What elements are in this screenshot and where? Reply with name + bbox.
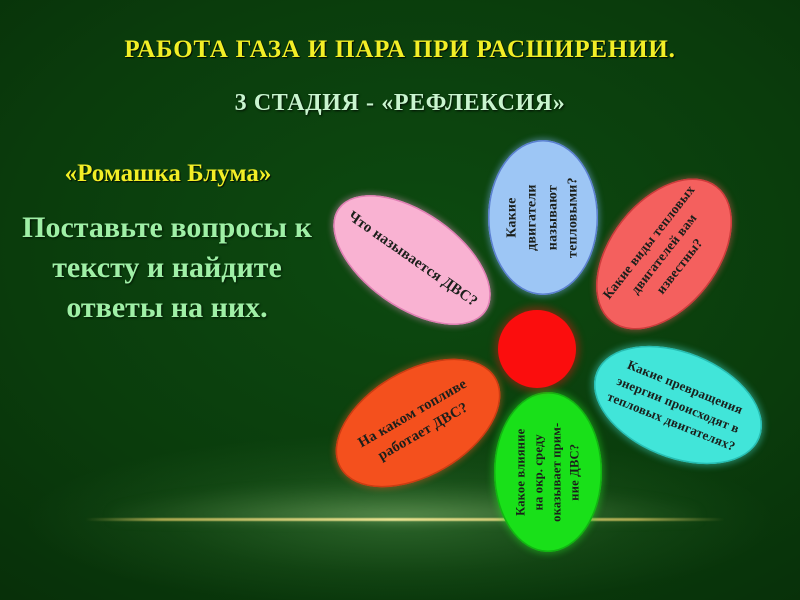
petal-question-red[interactable]: Какие виды тепловых двигателей вам извес… (569, 153, 760, 355)
flower-center-circle (498, 310, 576, 388)
petal-question-cyan[interactable]: Какие превращения энергии происходят в т… (577, 323, 780, 487)
slide-subtitle: 3 СТАДИЯ - «РЕФЛЕКСИЯ» (0, 90, 800, 117)
horizon-line (85, 518, 725, 521)
petal-question-text: Какие двигатели называют тепловыми? (502, 163, 583, 273)
slide-title: РАБОТА ГАЗА И ПАРА ПРИ РАСШИРЕНИИ. (0, 36, 800, 64)
petal-question-text: Какое влияние на окр. среду оказывает пр… (512, 422, 585, 521)
petal-question-pink[interactable]: Что называется ДВС? (311, 169, 514, 351)
petal-question-text: На каком топливе работает ДВС? (354, 374, 481, 472)
petal-question-text: Какие виды тепловых двигателей вам извес… (598, 181, 730, 327)
instruction-text: Поставьте вопросы к тексту и найдите отв… (6, 208, 328, 328)
petal-question-text: Какие превращения энергии происходят в т… (604, 353, 752, 457)
presentation-slide: РАБОТА ГАЗА И ПАРА ПРИ РАСШИРЕНИИ. 3 СТА… (0, 0, 800, 600)
petal-question-blue[interactable]: Какие двигатели называют тепловыми? (488, 140, 598, 295)
petal-question-green[interactable]: Какое влияние на окр. среду оказывает пр… (494, 392, 602, 552)
method-label: «Ромашка Блума» (8, 160, 328, 188)
petal-question-text: Что называется ДВС? (343, 207, 482, 313)
horizon-glow (110, 486, 700, 522)
